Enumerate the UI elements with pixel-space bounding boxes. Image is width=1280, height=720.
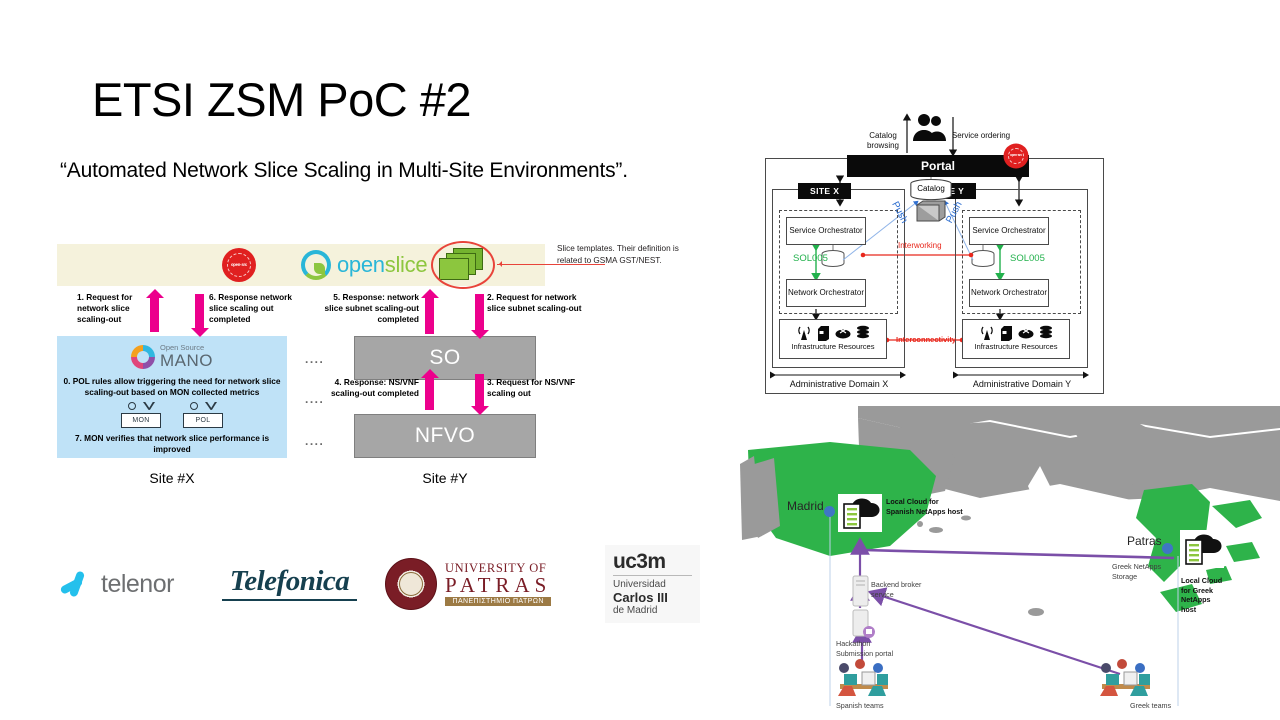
telefonica-wordmark: Telefonica	[222, 567, 357, 596]
spanish-cloud-icon	[838, 494, 882, 532]
network-orchestrator-y: Network Orchestrator	[969, 279, 1049, 307]
patras-line-3: ΠΑΝΕΠΙΣΤΗΜΙΟ ΠΑΤΡΩΝ	[445, 597, 551, 606]
backend-broker-label: Backend broker service	[871, 580, 931, 599]
sol005-label-y: SOL005	[1010, 253, 1045, 264]
arrow-step-2	[475, 294, 484, 330]
step-6-label: 6. Response network slice scaling out co…	[209, 292, 299, 326]
ellipsis-2: ....	[305, 392, 324, 406]
service-orchestrator-y: Service Orchestrator	[969, 217, 1049, 245]
interworking-label: Interworking	[898, 241, 942, 250]
local-cloud-greek-label: Local Cloud for Greek NetApps host	[1181, 576, 1223, 615]
site-y-caption: Site #Y	[354, 470, 536, 486]
uc3m-line-3: de Madrid	[613, 605, 692, 617]
infrastructure-resources-y: Infrastructure Resources	[962, 319, 1070, 359]
site-x-caption: Site #X	[57, 470, 287, 486]
openslice-mark-icon	[301, 250, 331, 280]
slice-template-highlight-ellipse	[431, 241, 495, 289]
admin-domain-x-label: Administrative Domain X	[771, 379, 907, 389]
spanish-teams-label: Spanish teams	[836, 701, 906, 711]
telenor-logo: telenor	[60, 570, 200, 599]
arrow-step-5	[425, 298, 434, 334]
uc3m-logo: uc3m Universidad Carlos III de Madrid	[605, 545, 700, 622]
openslice-wordmark: openslice	[337, 252, 427, 278]
mano-step-0: 0. POL rules allow triggering the need f…	[57, 370, 287, 398]
step-3-label: 3. Request for NS/VNF scaling out	[487, 377, 591, 399]
arrow-step-1	[150, 298, 159, 332]
osm-mark-icon	[131, 345, 155, 369]
patras-seal-icon	[385, 558, 437, 610]
backend-broker-icon	[853, 576, 868, 606]
mon-agent-label: MON	[121, 413, 161, 428]
router-icon	[835, 327, 851, 339]
so-box: SO	[354, 336, 536, 380]
mano-box: Open Source MANO 0. POL rules allow trig…	[57, 336, 287, 458]
pol-agent-label: POL	[183, 413, 223, 428]
hackathon-portal-label: Hackathon Submission portal	[836, 639, 902, 658]
server-icon	[817, 325, 830, 341]
osm-logo: Open Source MANO	[57, 336, 287, 370]
portal-bar[interactable]: Portal	[847, 155, 1029, 177]
antenna-icon	[979, 325, 995, 341]
madrid-city-dot	[824, 506, 835, 517]
uc3m-line-2: Carlos III	[613, 591, 692, 605]
patras-city-dot	[1162, 543, 1173, 554]
greek-teams-icon	[1098, 658, 1154, 696]
mon-agent: MON	[121, 402, 161, 428]
uc3m-rule	[613, 575, 692, 576]
arrow-step-6	[195, 294, 204, 328]
telenor-mark-icon	[60, 571, 94, 597]
slice-template-note: Slice templates. Their definition is rel…	[557, 243, 679, 267]
infrastructure-resources-x: Infrastructure Resources	[779, 319, 887, 359]
page-title: ETSI ZSM PoC #2	[92, 74, 471, 126]
step-5-label: 5. Response: network slice subnet scalin…	[315, 292, 419, 326]
antenna-icon	[796, 325, 812, 341]
partner-logos: telenor Telefonica UNIVERSITY OF PATRAS …	[60, 552, 700, 616]
catalog-db-icon	[915, 199, 947, 223]
greek-cloud-icon	[1180, 530, 1224, 568]
catalog-label: Catalog	[907, 184, 955, 193]
local-cloud-spanish-label: Local Cloud for Spanish NetApps host	[886, 497, 964, 516]
storage-icon	[856, 325, 870, 341]
ellipsis-1: ....	[305, 352, 324, 366]
sol005-label-x: SOL005	[793, 253, 828, 264]
osm-logo-main: MANO	[160, 351, 213, 370]
telefonica-rule	[222, 599, 357, 601]
uc3m-wordmark: uc3m	[613, 551, 692, 572]
interconnectivity-label: Interconnectivity	[896, 335, 956, 344]
madrid-label: Madrid	[787, 499, 824, 513]
nfvo-box: NFVO	[354, 414, 536, 458]
service-orchestrator-x: Service Orchestrator	[786, 217, 866, 245]
greek-netapps-storage-label: Greek NetApps Storage	[1112, 562, 1170, 581]
storage-icon	[1039, 325, 1053, 341]
slide-root: ETSI ZSM PoC #2 “Automated Network Slice…	[0, 0, 1280, 720]
flow-diagram: open·src openslice Slice templates. Thei…	[57, 244, 677, 504]
site-x-pill: SITE X	[798, 183, 851, 199]
pol-agent: POL	[183, 402, 223, 428]
ellipsis-3: ....	[305, 434, 324, 448]
deployment-map: Madrid Patras Local Cloud for Spanish Ne…	[740, 406, 1280, 720]
architecture-diagram: Catalog browsing Service ordering	[757, 113, 1107, 401]
step-1-label: 1. Request for network slice scaling-out	[77, 292, 149, 326]
network-orchestrator-x: Network Orchestrator	[786, 279, 866, 307]
antenna-icon	[183, 402, 223, 413]
page-subtitle: “Automated Network Slice Scaling in Mult…	[60, 159, 628, 183]
infrastructure-resources-caption-y: Infrastructure Resources	[963, 342, 1069, 351]
university-of-patras-logo: UNIVERSITY OF PATRAS ΠΑΝΕΠΙΣΤΗΜΙΟ ΠΑΤΡΩΝ	[385, 558, 575, 610]
spanish-teams-icon	[836, 658, 892, 696]
mano-step-7: 7. MON verifies that network slice perfo…	[57, 428, 287, 455]
step-2-label: 2. Request for network slice subnet scal…	[487, 292, 591, 314]
infrastructure-resources-caption-x: Infrastructure Resources	[780, 342, 886, 351]
router-icon	[1018, 327, 1034, 339]
mano-agents: MON POL	[57, 402, 287, 428]
step-4-label: 4. Response: NS/VNF scaling-out complete…	[315, 377, 419, 399]
arrow-step-3	[475, 374, 484, 406]
osl-seal-icon: open·src	[224, 250, 254, 280]
admin-domain-y-label: Administrative Domain Y	[954, 379, 1090, 389]
greek-teams-label: Greek teams	[1130, 701, 1194, 711]
patras-line-2: PATRAS	[445, 575, 551, 596]
openslice-logo: openslice	[301, 250, 427, 280]
arch-osl-seal-icon: open·src	[1005, 145, 1027, 167]
antenna-icon	[121, 402, 161, 413]
server-icon	[1000, 325, 1013, 341]
arrow-step-4	[425, 378, 434, 410]
europe-map-graphic	[740, 406, 1280, 720]
patras-label: Patras	[1127, 534, 1162, 548]
telenor-wordmark: telenor	[101, 570, 174, 599]
telefonica-logo: Telefonica	[222, 567, 357, 601]
